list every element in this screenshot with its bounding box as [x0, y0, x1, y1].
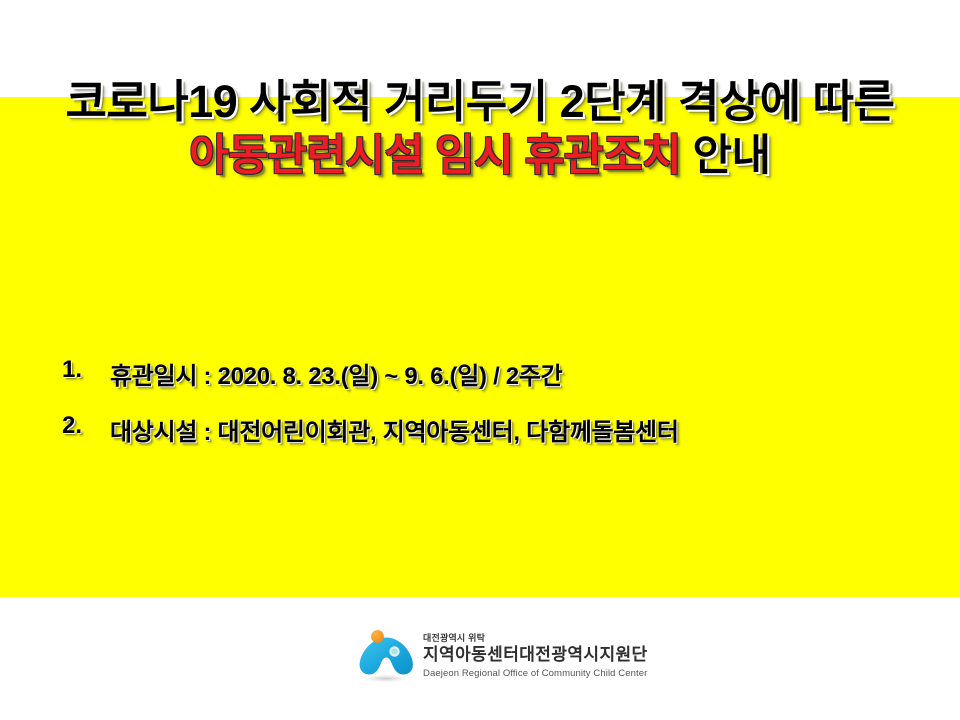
- child-arch-logo-icon: [355, 628, 417, 684]
- list-item-text: 휴관일시 : 2020. 8. 23.(일) ~ 9. 6.(일) / 2주간: [110, 356, 562, 391]
- headline-block: 코로나19 사회적 거리두기 2단계 격상에 따른 아동관련시설 임시 휴관조치…: [0, 75, 960, 182]
- headline-line-2-black: 안내: [681, 132, 771, 180]
- logo-line-english: Daejeon Regional Office of Community Chi…: [423, 668, 648, 680]
- headline-line-2-red: 아동관련시설 임시 휴관조치: [189, 132, 681, 180]
- list-item-number: 2.: [62, 412, 110, 440]
- headline-line-1: 코로나19 사회적 거리두기 2단계 격상에 따른: [0, 75, 960, 130]
- logo-line-main: 지역아동센터대전광역시지원단: [423, 645, 648, 665]
- list-item: 2. 대상시설 : 대전어린이회관, 지역아동센터, 다함께돌봄센터: [62, 412, 922, 447]
- list-item: 1. 휴관일시 : 2020. 8. 23.(일) ~ 9. 6.(일) / 2…: [62, 356, 922, 391]
- body-list: 1. 휴관일시 : 2020. 8. 23.(일) ~ 9. 6.(일) / 2…: [62, 356, 922, 468]
- headline-line-2: 아동관련시설 임시 휴관조치 안내: [0, 130, 960, 182]
- list-item-number: 1.: [62, 356, 110, 384]
- logo-line-top: 대전광역시 위탁: [423, 633, 648, 644]
- footer-logo: 대전광역시 위탁 지역아동센터대전광역시지원단 Daejeon Regional…: [355, 628, 648, 684]
- list-item-text: 대상시설 : 대전어린이회관, 지역아동센터, 다함께돌봄센터: [110, 412, 679, 447]
- logo-text-block: 대전광역시 위탁 지역아동센터대전광역시지원단 Daejeon Regional…: [423, 632, 648, 680]
- slide-root: 코로나19 사회적 거리두기 2단계 격상에 따른 아동관련시설 임시 휴관조치…: [0, 0, 960, 720]
